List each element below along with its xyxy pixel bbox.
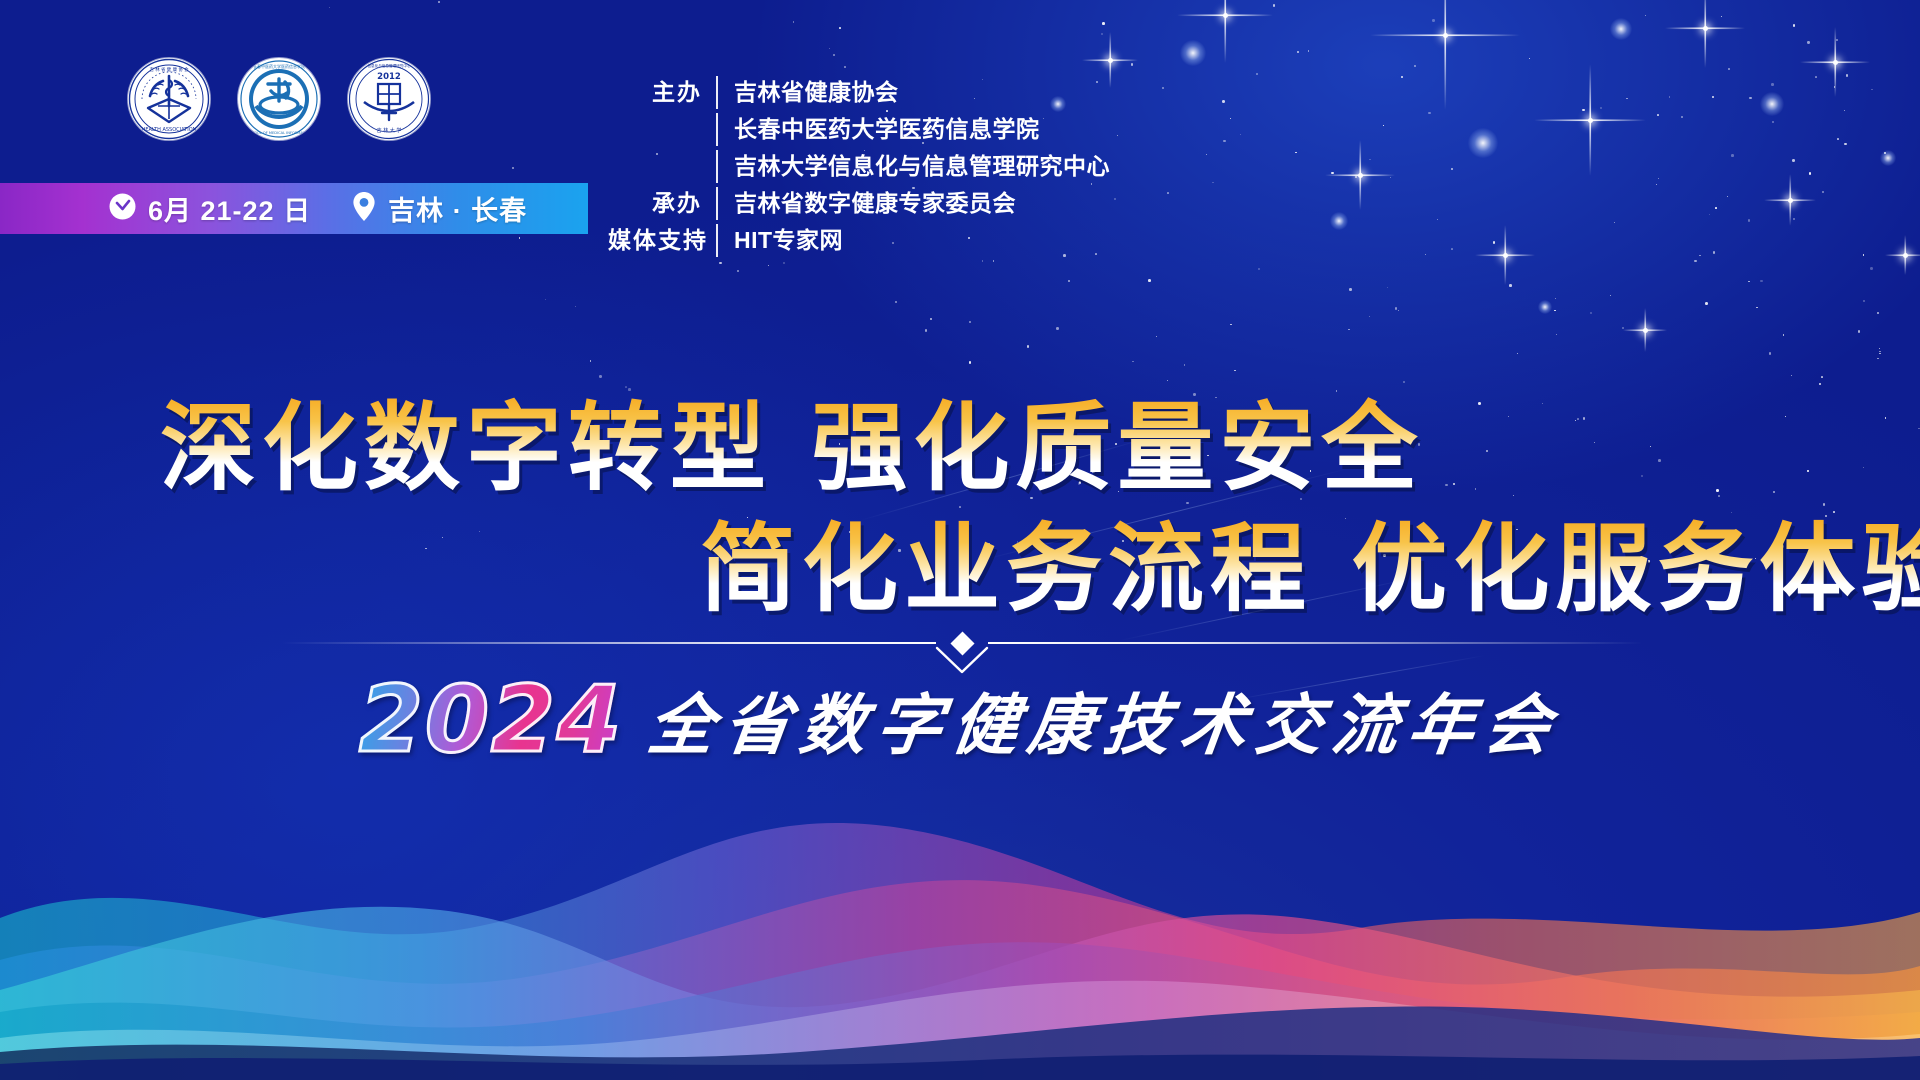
star-dot bbox=[982, 260, 984, 262]
star-dot bbox=[1807, 41, 1809, 43]
star-dot bbox=[1769, 352, 1772, 355]
star-dot bbox=[1517, 353, 1518, 354]
star-dot bbox=[1705, 302, 1708, 305]
event-location: 吉林 · 长春 bbox=[351, 189, 527, 228]
star-dot bbox=[1529, 58, 1530, 59]
star-dot bbox=[1877, 358, 1878, 359]
star-dot bbox=[1879, 353, 1881, 355]
star-glow bbox=[1610, 18, 1632, 40]
logo-group: HEALTH ASSOCIATION 吉 林 省 健 康 协 会 长春中医药大学… bbox=[128, 58, 430, 140]
star-dot bbox=[1331, 172, 1333, 174]
star-dot bbox=[1369, 159, 1370, 160]
star-dot bbox=[1793, 24, 1796, 27]
star-dot bbox=[1792, 159, 1795, 162]
star-dot bbox=[1403, 381, 1404, 382]
star-dot bbox=[1834, 86, 1835, 87]
star-dot bbox=[1727, 196, 1728, 197]
star-dot bbox=[1425, 254, 1426, 255]
svg-text:吉 林 省 健 康 协 会: 吉 林 省 健 康 协 会 bbox=[149, 66, 189, 73]
organizer-value: 吉林省健康协会 bbox=[718, 74, 899, 111]
star-dot bbox=[1657, 114, 1659, 116]
star-dot bbox=[844, 66, 846, 68]
star-dot bbox=[1694, 260, 1696, 262]
star-dot bbox=[1656, 184, 1657, 185]
star-dot bbox=[1184, 364, 1186, 366]
organizer-row: 长春中医药大学医药信息学院 bbox=[608, 111, 1110, 148]
star-dot bbox=[1554, 310, 1556, 312]
star-dot bbox=[1398, 310, 1399, 311]
star-dot bbox=[1749, 97, 1751, 99]
sparkle-star-icon bbox=[1623, 308, 1667, 352]
star-dot bbox=[895, 301, 897, 303]
sparkle-star-icon bbox=[1370, 0, 1520, 110]
organizer-divider bbox=[716, 187, 718, 220]
star-dot bbox=[1783, 334, 1784, 335]
conference-banner: HEALTH ASSOCIATION 吉 林 省 健 康 协 会 长春中医药大学… bbox=[0, 0, 1920, 1080]
star-dot bbox=[1101, 33, 1104, 36]
star-dot bbox=[1256, 73, 1258, 75]
divider-rule-right bbox=[988, 642, 1642, 644]
organizer-divider bbox=[716, 224, 718, 257]
star-dot bbox=[1117, 135, 1118, 136]
star-dot bbox=[1791, 375, 1792, 376]
svg-text:长春中医药大学医药信息学院: 长春中医药大学医药信息学院 bbox=[253, 63, 305, 69]
star-dot bbox=[1355, 176, 1357, 178]
star-dot bbox=[1369, 316, 1370, 317]
star-dot bbox=[1206, 154, 1207, 155]
star-dot bbox=[628, 388, 631, 391]
star-dot bbox=[1349, 288, 1352, 291]
star-dot bbox=[1387, 287, 1389, 289]
star-dot bbox=[1819, 383, 1821, 385]
star-dot bbox=[1771, 83, 1774, 86]
event-meta-bar: 6月 21-22 日 吉林 · 长春 bbox=[0, 183, 588, 234]
jilin-university-research-center-logo: 2012 信息化与信息管理研究中心 吉 林 大 学 bbox=[348, 58, 430, 140]
star-dot bbox=[1844, 110, 1845, 111]
star-dot bbox=[1871, 89, 1873, 91]
changchun-tcm-university-logo: 长春中医药大学医药信息学院 SCHOOL OF MEDICAL INFORMAT… bbox=[238, 58, 320, 140]
star-dot bbox=[575, 306, 576, 307]
star-dot bbox=[1383, 125, 1384, 126]
star-dot bbox=[590, 360, 591, 361]
star-dot bbox=[1297, 51, 1299, 53]
star-dot bbox=[925, 329, 927, 331]
star-dot bbox=[1837, 138, 1839, 140]
star-dot bbox=[1681, 116, 1683, 118]
headline-line-2: 简化业务流程 优化服务体验 bbox=[0, 513, 1920, 626]
star-dot bbox=[1451, 248, 1453, 250]
clock-icon bbox=[108, 192, 137, 226]
star-dot bbox=[1230, 118, 1232, 120]
star-dot bbox=[1822, 191, 1824, 193]
star-dot bbox=[1846, 74, 1848, 76]
star-dot bbox=[1748, 219, 1750, 221]
star-dot bbox=[1555, 298, 1556, 299]
star-dot bbox=[783, 262, 785, 264]
star-dot bbox=[1401, 76, 1403, 78]
organizer-divider bbox=[716, 150, 718, 183]
organizer-row: 承办吉林省数字健康专家委员会 bbox=[608, 185, 1110, 222]
star-dot bbox=[1614, 222, 1615, 223]
star-dot bbox=[1273, 4, 1276, 7]
svg-text:吉 林 大 学: 吉 林 大 学 bbox=[377, 127, 402, 134]
organizer-row: 吉林大学信息化与信息管理研究中心 bbox=[608, 148, 1110, 185]
star-dot bbox=[1870, 267, 1873, 270]
star-dot bbox=[1863, 254, 1864, 255]
organizer-row: 主办吉林省健康协会 bbox=[608, 74, 1110, 111]
star-dot bbox=[1223, 140, 1226, 143]
star-dot bbox=[1884, 152, 1886, 154]
star-dot bbox=[599, 375, 602, 378]
event-date: 6月 21-22 日 bbox=[108, 189, 311, 228]
star-dot bbox=[1509, 284, 1512, 287]
star-dot bbox=[1721, 16, 1722, 17]
star-dot bbox=[1712, 96, 1714, 98]
divider-rule-left bbox=[282, 642, 936, 644]
star-dot bbox=[1258, 268, 1260, 270]
star-dot bbox=[1308, 50, 1310, 52]
star-dot bbox=[1715, 207, 1717, 209]
star-dot bbox=[737, 270, 739, 272]
star-dot bbox=[1658, 178, 1659, 179]
star-dot bbox=[1610, 295, 1611, 296]
star-dot bbox=[1102, 22, 1105, 25]
sparkle-star-icon bbox=[1764, 174, 1816, 226]
star-dot bbox=[1821, 376, 1823, 378]
star-dot bbox=[1428, 112, 1430, 114]
star-dot bbox=[993, 260, 994, 261]
star-dot bbox=[1132, 361, 1134, 363]
star-dot bbox=[1748, 281, 1749, 282]
star-dot bbox=[969, 321, 971, 323]
wave-decoration bbox=[0, 660, 1920, 1080]
svg-text:信息化与信息管理研究中心: 信息化与信息管理研究中心 bbox=[367, 63, 411, 68]
star-glow bbox=[1760, 92, 1784, 116]
star-dot bbox=[1167, 380, 1168, 381]
event-location-text: 吉林 · 长春 bbox=[388, 189, 527, 228]
star-dot bbox=[1240, 134, 1241, 135]
organizer-label: 媒体支持 bbox=[608, 222, 716, 259]
star-dot bbox=[1395, 307, 1398, 310]
star-dot bbox=[1493, 241, 1495, 243]
headline-block: 深化数字转型 强化质量安全 简化业务流程 优化服务体验 bbox=[0, 392, 1920, 627]
star-dot bbox=[1068, 280, 1070, 282]
organizer-block: 主办吉林省健康协会长春中医药大学医药信息学院吉林大学信息化与信息管理研究中心承办… bbox=[608, 74, 1110, 259]
star-dot bbox=[1669, 96, 1670, 97]
star-dot bbox=[1844, 143, 1846, 145]
star-dot bbox=[1390, 177, 1391, 178]
star-dot bbox=[1432, 19, 1435, 22]
star-dot bbox=[1600, 107, 1602, 109]
sparkle-star-icon bbox=[1534, 64, 1646, 176]
star-dot bbox=[1626, 98, 1627, 99]
star-glow bbox=[1538, 300, 1552, 314]
star-dot bbox=[625, 386, 627, 388]
star-dot bbox=[1709, 214, 1710, 215]
star-dot bbox=[768, 265, 769, 266]
jilin-health-association-logo: HEALTH ASSOCIATION 吉 林 省 健 康 协 会 bbox=[128, 58, 210, 140]
star-dot bbox=[969, 361, 971, 363]
star-dot bbox=[1156, 336, 1157, 337]
star-dot bbox=[793, 21, 794, 22]
star-dot bbox=[519, 237, 521, 239]
organizer-divider bbox=[716, 113, 718, 146]
star-dot bbox=[1556, 334, 1558, 336]
star-dot bbox=[1114, 198, 1115, 199]
star-dot bbox=[512, 167, 515, 170]
star-dot bbox=[930, 318, 932, 320]
star-dot bbox=[1212, 182, 1213, 183]
star-glow bbox=[1180, 40, 1206, 66]
svg-text:SCHOOL OF MEDICAL INFORMATION: SCHOOL OF MEDICAL INFORMATION bbox=[247, 131, 312, 135]
event-date-text: 6月 21-22 日 bbox=[148, 189, 311, 228]
star-dot bbox=[438, 1, 440, 3]
star-dot bbox=[1809, 172, 1811, 174]
star-dot bbox=[1131, 63, 1133, 65]
sparkle-star-icon bbox=[1800, 27, 1870, 97]
headline-line-1: 深化数字转型 强化质量安全 bbox=[0, 392, 1920, 505]
star-dot bbox=[1148, 279, 1151, 282]
organizer-value: 吉林大学信息化与信息管理研究中心 bbox=[718, 148, 1110, 185]
star-dot bbox=[1713, 251, 1716, 254]
star-dot bbox=[1879, 351, 1881, 353]
star-dot bbox=[839, 27, 841, 29]
svg-text:2012: 2012 bbox=[377, 72, 401, 82]
star-dot bbox=[1863, 300, 1865, 302]
star-dot bbox=[1815, 76, 1817, 78]
star-dot bbox=[1793, 218, 1795, 220]
star-glow bbox=[1468, 128, 1498, 158]
star-dot bbox=[1877, 312, 1879, 314]
sparkle-star-icon bbox=[1665, 0, 1745, 68]
location-pin-icon bbox=[351, 191, 377, 227]
organizer-value: 长春中医药大学医药信息学院 bbox=[718, 111, 1040, 148]
star-dot bbox=[1027, 345, 1030, 348]
star-dot bbox=[1162, 87, 1163, 88]
organizer-row: 媒体支持HIT专家网 bbox=[608, 222, 1110, 259]
organizer-label: 承办 bbox=[608, 185, 716, 222]
svg-text:HEALTH ASSOCIATION: HEALTH ASSOCIATION bbox=[142, 127, 197, 133]
star-glow bbox=[1880, 150, 1896, 166]
star-dot bbox=[1590, 312, 1592, 314]
star-dot bbox=[1772, 121, 1774, 123]
star-dot bbox=[1234, 370, 1235, 371]
star-dot bbox=[1858, 330, 1861, 333]
sparkle-star-icon bbox=[1177, 0, 1273, 63]
star-dot bbox=[545, 299, 546, 300]
star-dot bbox=[719, 262, 722, 265]
star-dot bbox=[1622, 327, 1624, 329]
star-dot bbox=[1836, 39, 1839, 42]
star-dot bbox=[1348, 329, 1349, 330]
star-dot bbox=[1731, 154, 1734, 157]
star-dot bbox=[1414, 65, 1416, 67]
star-dot bbox=[1582, 109, 1584, 111]
star-dot bbox=[329, 7, 330, 8]
star-dot bbox=[1760, 280, 1762, 282]
star-dot bbox=[1167, 192, 1169, 194]
star-dot bbox=[833, 54, 835, 56]
star-dot bbox=[1056, 327, 1059, 330]
star-dot bbox=[1879, 348, 1880, 349]
organizer-value: HIT专家网 bbox=[718, 222, 843, 259]
star-dot bbox=[1437, 219, 1438, 220]
star-dot bbox=[1645, 15, 1646, 16]
star-dot bbox=[1699, 255, 1701, 257]
organizer-label: 主办 bbox=[608, 74, 716, 111]
organizer-divider bbox=[716, 76, 718, 109]
sparkle-star-icon bbox=[1885, 235, 1920, 275]
star-glow bbox=[1330, 212, 1348, 230]
star-dot bbox=[829, 48, 830, 49]
star-dot bbox=[1756, 307, 1758, 309]
star-dot bbox=[1451, 168, 1453, 170]
sparkle-star-icon bbox=[1475, 225, 1535, 285]
star-dot bbox=[1728, 68, 1730, 70]
star-dot bbox=[1230, 324, 1232, 326]
star-dot bbox=[1295, 152, 1296, 153]
star-dot bbox=[1222, 100, 1225, 103]
organizer-value: 吉林省数字健康专家委员会 bbox=[718, 185, 1016, 222]
sparkle-star-icon bbox=[1325, 140, 1395, 210]
